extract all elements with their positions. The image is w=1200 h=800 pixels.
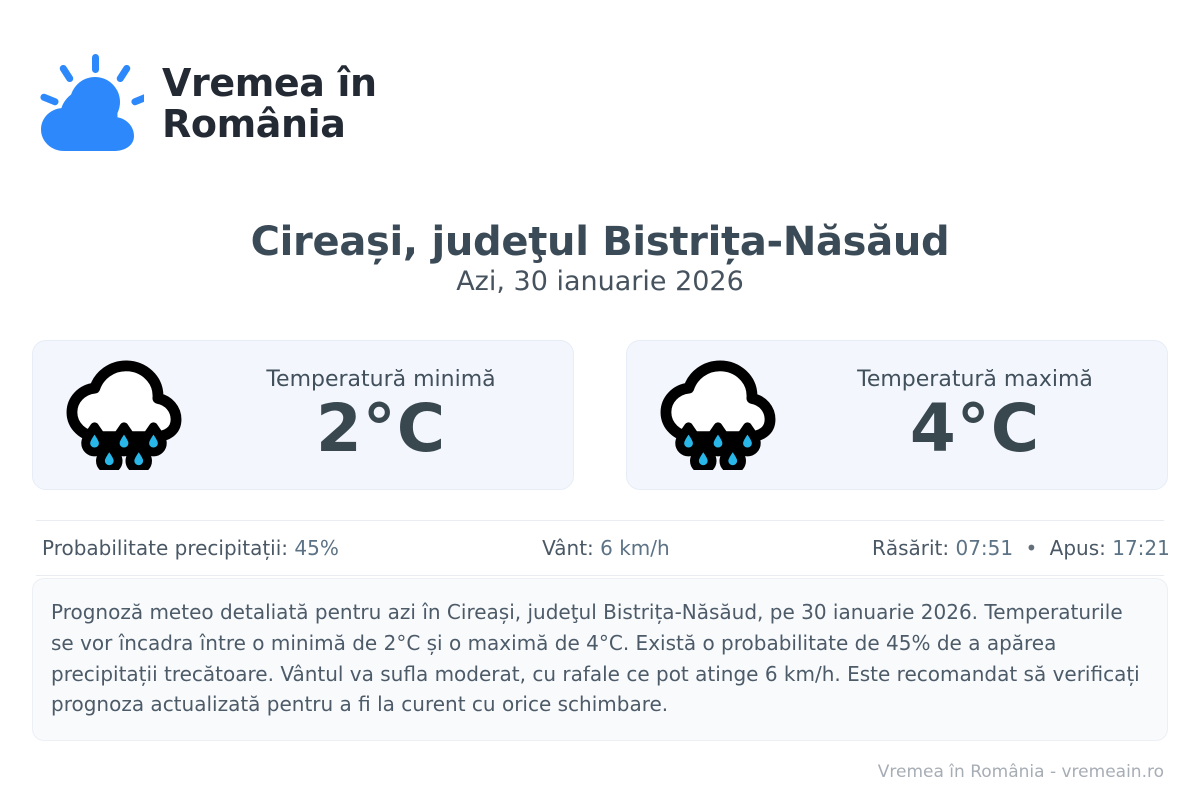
sun-times-stat: Răsărit: 07:51 • Apus: 17:21 [794,536,1174,560]
min-temperature-label: Temperatură minimă [266,367,495,392]
max-temperature-card: Temperatură maximă 4°C [626,340,1168,490]
page-title: Cireași, judeţul Bistrița-Năsăud [0,219,1200,265]
sunrise-label: Răsărit: [872,536,949,560]
brand-logo: Vremea în România [36,52,377,156]
brand-name: Vremea în România [162,63,377,145]
temperature-cards: Temperatură minimă 2°C Temperatură maxim… [32,340,1168,490]
page-subtitle: Azi, 30 ianuarie 2026 [0,266,1200,297]
sun-times-separator: • [1019,536,1043,560]
max-temperature-value: 4°C [910,394,1040,463]
rain-cloud-icon [659,360,777,470]
sunset-value: 17:21 [1112,536,1170,560]
forecast-description: Prognoză meteo detaliată pentru azi în C… [32,578,1168,741]
precipitation-value: 45% [294,536,338,560]
min-temperature-card: Temperatură minimă 2°C [32,340,574,490]
wind-label: Vânt: [542,536,594,560]
sunset-label: Apus: [1050,536,1106,560]
min-temperature-value: 2°C [316,394,446,463]
max-temperature-label: Temperatură maximă [857,367,1093,392]
weather-stats-row: Probabilitate precipitații: 45% Vânt: 6 … [36,520,1164,576]
wind-stat: Vânt: 6 km/h [418,536,794,560]
rain-cloud-icon [65,360,183,470]
weather-page: Vremea în România Cireași, judeţul Bistr… [0,0,1200,800]
wind-value: 6 km/h [600,536,670,560]
precipitation-stat: Probabilitate precipitații: 45% [36,536,418,560]
max-temperature-info: Temperatură maximă 4°C [803,367,1153,463]
sun-behind-cloud-icon [36,52,144,156]
min-temperature-info: Temperatură minimă 2°C [209,367,559,463]
sunrise-value: 07:51 [955,536,1013,560]
precipitation-label: Probabilitate precipitații: [42,536,288,560]
footer-credit: Vremea în România - vremeain.ro [878,762,1164,782]
